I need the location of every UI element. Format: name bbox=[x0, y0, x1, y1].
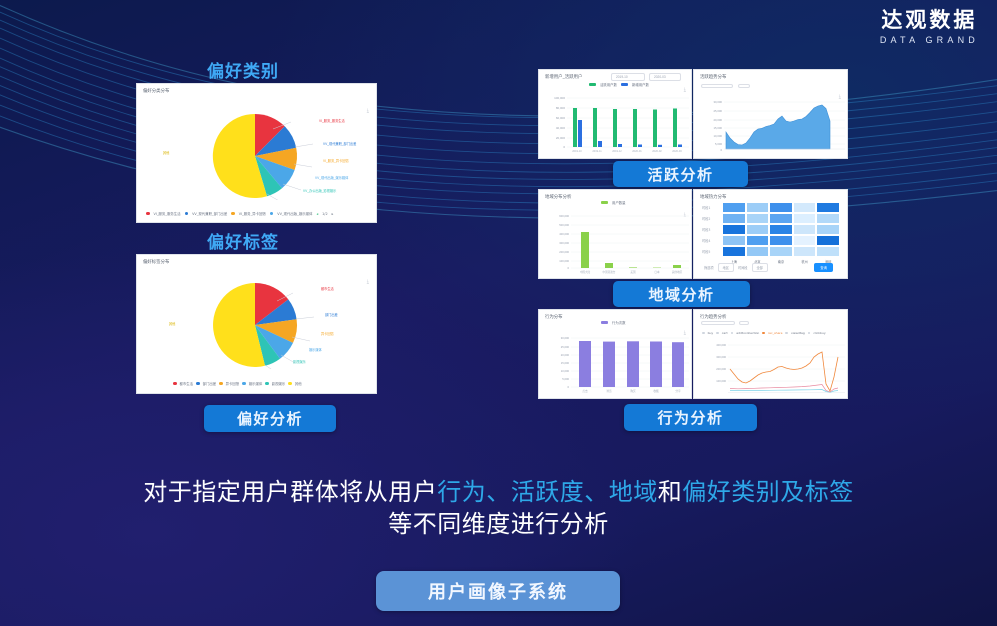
filter-label-2: 时间段 bbox=[738, 265, 748, 270]
description-text: 对于指定用户群体将从用户行为、活跃度、地域和偏好类别及标签等不同维度进行分析 bbox=[139, 476, 859, 540]
svg-text:分享: 分享 bbox=[675, 389, 681, 393]
svg-text:其他地区: 其他地区 bbox=[672, 270, 683, 274]
date-start-input[interactable]: 2019-10 bbox=[611, 73, 645, 81]
svg-text:10,000: 10,000 bbox=[713, 134, 722, 138]
download-icon[interactable]: ⤓ bbox=[367, 108, 369, 114]
svg-text:10,000: 10,000 bbox=[561, 369, 570, 373]
heatmap-cell[interactable] bbox=[793, 235, 817, 246]
svg-text:60,000: 60,000 bbox=[556, 116, 566, 120]
svg-text:2020-03: 2020-03 bbox=[672, 149, 682, 153]
svg-text:30,000: 30,000 bbox=[713, 100, 722, 104]
heatmap-cell[interactable] bbox=[769, 246, 793, 257]
chart-card-preference-category: 偏好分类分布 ⤓ VI_服务_服务生活 VV_现代兼职_部门出差 VI_服务_异… bbox=[136, 83, 377, 223]
pill-region-analysis[interactable]: 地域分析 bbox=[613, 281, 750, 307]
chart-title: 地域热力分布 bbox=[700, 194, 726, 200]
filter-icon[interactable] bbox=[739, 321, 749, 325]
legend-label-3: VV_现代出版_娱乐媒体 bbox=[277, 211, 312, 216]
svg-text:30,000: 30,000 bbox=[561, 336, 570, 340]
line-chart: 400,000300,000 200,000100,000 bbox=[698, 339, 847, 396]
search-input[interactable] bbox=[701, 321, 735, 325]
legend-swatch-3 bbox=[762, 332, 765, 335]
svg-text:20,000: 20,000 bbox=[561, 353, 570, 357]
pie-label-1: 部门出差 bbox=[325, 312, 338, 317]
caption-preference-category: 偏好类别 bbox=[207, 57, 279, 82]
heatmap-cell[interactable] bbox=[793, 202, 817, 213]
chart-legend[interactable]: 行为次数 bbox=[601, 320, 626, 325]
chart-title: 行为分布 bbox=[545, 314, 563, 320]
logo-text-en: DATA GRAND bbox=[880, 36, 979, 45]
svg-text:300,000: 300,000 bbox=[559, 241, 569, 245]
download-icon[interactable]: ⤓ bbox=[367, 279, 369, 285]
svg-text:2019-12: 2019-12 bbox=[612, 149, 622, 153]
legend-swatch-5 bbox=[808, 332, 811, 335]
filter-select-1[interactable]: 地区 bbox=[718, 263, 734, 272]
legend-swatch-1 bbox=[196, 382, 200, 386]
area-chart: 30,00025,000 20,00015,000 10,0005,000 0 bbox=[698, 96, 847, 156]
svg-text:5,000: 5,000 bbox=[715, 142, 722, 146]
heatmap-cell[interactable] bbox=[816, 235, 840, 246]
legend-swatch-0 bbox=[601, 201, 608, 204]
pie-label-5: 其他 bbox=[163, 150, 169, 155]
svg-text:2020-01: 2020-01 bbox=[632, 149, 642, 153]
heatmap-filter-bar[interactable]: 筛选项 地区 时间段 全部 bbox=[704, 263, 768, 272]
pill-preference-analysis[interactable]: 偏好分析 bbox=[204, 405, 336, 432]
legend-swatch-2 bbox=[219, 382, 223, 386]
heatmap-row-label-1: 时段2 bbox=[702, 213, 710, 224]
legend-pager-next-icon[interactable]: ▸ bbox=[332, 212, 334, 216]
heatmap-grid[interactable] bbox=[722, 202, 840, 257]
legend-label-1: 部门出差 bbox=[203, 381, 217, 386]
desc-sep-2: 、 bbox=[584, 478, 609, 506]
legend-pager-prev-icon[interactable]: ◂ bbox=[316, 212, 318, 216]
svg-text:20,000: 20,000 bbox=[556, 136, 566, 140]
svg-text:0: 0 bbox=[568, 385, 570, 389]
legend-swatch-1 bbox=[185, 212, 189, 216]
svg-text:2019-10: 2019-10 bbox=[572, 149, 582, 153]
pie-label-0: 都市生活 bbox=[321, 286, 334, 291]
heatmap-col-label-2: 南京 bbox=[769, 259, 793, 264]
legend-label-2: VI_服务_异卡回馈 bbox=[239, 211, 266, 216]
heatmap-cell[interactable] bbox=[746, 213, 770, 224]
svg-text:15,000: 15,000 bbox=[713, 126, 722, 130]
heatmap-row-label-2: 时段3 bbox=[702, 224, 710, 235]
legend-label-2: addtocollection bbox=[736, 331, 759, 335]
svg-text:25,000: 25,000 bbox=[561, 345, 570, 349]
pie-label-4: 影视娱乐 bbox=[293, 359, 306, 364]
svg-text:中国大陆: 中国大陆 bbox=[580, 270, 591, 274]
filter-label-1: 筛选项 bbox=[704, 265, 714, 270]
heatmap-cell[interactable] bbox=[769, 202, 793, 213]
chart-legend[interactable]: 都市生活 部门出差 异卡回馈 娱乐媒体 影视娱乐 其他 bbox=[173, 381, 302, 386]
svg-text:20,000: 20,000 bbox=[713, 118, 722, 122]
logo-text-cn: 达观数据 bbox=[880, 10, 979, 31]
pill-behavior-analysis[interactable]: 行为分析 bbox=[624, 404, 757, 431]
heatmap-cell[interactable] bbox=[722, 224, 746, 235]
svg-text:100,000: 100,000 bbox=[716, 379, 726, 383]
heatmap-cell[interactable] bbox=[816, 202, 840, 213]
svg-text:收藏: 收藏 bbox=[653, 389, 659, 393]
legend-swatch-3 bbox=[270, 212, 274, 216]
legend-label-1: cart bbox=[722, 331, 728, 335]
heatmap-submit-button[interactable]: 查询 bbox=[814, 263, 833, 272]
desc-hl-region: 地域 bbox=[609, 478, 658, 506]
legend-swatch-0 bbox=[702, 332, 705, 335]
chart-legend[interactable]: 用户数量 bbox=[601, 200, 626, 205]
legend-label-4: viewdtag bbox=[791, 331, 805, 335]
legend-label-0: VI_服务_服务生活 bbox=[154, 211, 181, 216]
chart-card-behavior-bar: 行为分布 ⤓ 行为次数 30,00025,000 20,00015,000 10… bbox=[538, 309, 692, 399]
legend-label-3: rec_share bbox=[768, 331, 782, 335]
svg-text:400,000: 400,000 bbox=[559, 232, 569, 236]
legend-label-0: 活跃用户数 bbox=[600, 82, 617, 87]
heatmap-col-label-3: 杭州 bbox=[793, 259, 817, 264]
heatmap-cell[interactable] bbox=[722, 235, 746, 246]
heatmap-row-label-3: 时段4 bbox=[702, 235, 710, 246]
heatmap-cell[interactable] bbox=[746, 235, 770, 246]
desc-hl-active: 活跃度 bbox=[511, 478, 585, 506]
filter-select-2[interactable]: 全部 bbox=[752, 263, 768, 272]
date-end-input[interactable]: 2020-03 bbox=[649, 73, 681, 81]
legend-swatch-3 bbox=[242, 382, 246, 386]
chart-card-behavior-line: 行为趋势分析 buy cart addtocollection rec_shar… bbox=[693, 309, 848, 399]
legend-label-0: buy bbox=[708, 331, 714, 335]
svg-text:2020-02: 2020-02 bbox=[652, 149, 662, 153]
svg-text:购买: 购买 bbox=[630, 389, 636, 393]
legend-swatch-4 bbox=[265, 382, 269, 386]
legend-pager: 1/2 bbox=[322, 212, 327, 216]
date-range-input[interactable] bbox=[701, 84, 733, 88]
legend-label-0: 用户数量 bbox=[612, 200, 626, 205]
pie-chart bbox=[195, 112, 315, 200]
desc-hl-behavior: 行为 bbox=[437, 478, 486, 506]
legend-label-4: 影视娱乐 bbox=[272, 381, 286, 386]
svg-text:100,000: 100,000 bbox=[554, 96, 565, 100]
legend-label-1: 新增用户数 bbox=[632, 82, 649, 87]
svg-text:40,000: 40,000 bbox=[556, 126, 566, 130]
slide-root: 达观数据 DATA GRAND 偏好类别 偏好分类分布 ⤓ VI_服务_服务生活… bbox=[0, 0, 997, 626]
chart-title: 行为趋势分析 bbox=[700, 314, 726, 320]
svg-text:25,000: 25,000 bbox=[713, 109, 722, 113]
svg-text:15,000: 15,000 bbox=[561, 361, 570, 365]
heatmap-cell[interactable] bbox=[722, 246, 746, 257]
heatmap-cell[interactable] bbox=[746, 202, 770, 213]
heatmap-cell[interactable] bbox=[816, 213, 840, 224]
legend-swatch-0 bbox=[601, 321, 608, 324]
chart-title: 偏好分类分布 bbox=[143, 88, 169, 94]
heatmap-cell[interactable] bbox=[746, 224, 770, 235]
legend-swatch-2 bbox=[231, 212, 235, 216]
chart-card-preference-tag: 偏好标签分布 ⤓ 都市生活 部门出差 异卡回馈 娱乐媒体 影视娱乐 其他 都市生… bbox=[136, 254, 377, 394]
legend-swatch-4 bbox=[785, 332, 788, 335]
svg-text:80,000: 80,000 bbox=[556, 106, 566, 110]
svg-text:300,000: 300,000 bbox=[716, 355, 726, 359]
chart-legend[interactable]: buy cart addtocollection rec_share viewd… bbox=[702, 331, 826, 335]
svg-text:400,000: 400,000 bbox=[716, 343, 726, 347]
legend-label-5: 其他 bbox=[295, 381, 302, 386]
svg-text:0: 0 bbox=[563, 145, 565, 149]
chart-card-active-bar: 新增用户_活跃用户 2019-10 2020-03 ⤓ 活跃用户数 新增用户数 … bbox=[538, 69, 692, 159]
heatmap-cell[interactable] bbox=[769, 213, 793, 224]
chart-title: 偏好标签分布 bbox=[143, 259, 169, 265]
svg-text:5,000: 5,000 bbox=[562, 377, 569, 381]
heatmap-cell[interactable] bbox=[816, 224, 840, 235]
bar-chart: 600,000500,000 400,000300,000 200,000100… bbox=[543, 208, 691, 276]
heatmap-cell[interactable] bbox=[769, 224, 793, 235]
legend-swatch-5 bbox=[288, 382, 292, 386]
chart-legend[interactable]: 活跃用户数 新增用户数 bbox=[589, 82, 649, 87]
chart-legend[interactable]: VI_服务_服务生活 VV_现代兼职_部门出差 VI_服务_异卡回馈 VV_现代… bbox=[146, 211, 333, 216]
desc-hl-preference: 偏好类别及标签 bbox=[682, 478, 854, 506]
pie-label-5: 其他 bbox=[169, 321, 175, 326]
caption-preference-tag: 偏好标签 bbox=[207, 228, 279, 253]
pie-label-2: 异卡回馈 bbox=[321, 331, 334, 336]
desc-mid: 和 bbox=[658, 478, 683, 506]
filter-input[interactable] bbox=[738, 84, 750, 88]
heatmap-cell[interactable] bbox=[722, 202, 746, 213]
svg-text:200,000: 200,000 bbox=[716, 367, 726, 371]
desc-part-1: 对于指定用户群体将从用户 bbox=[143, 478, 437, 506]
heatmap-row-labels: 时段1 时段2 时段3 时段4 时段5 bbox=[702, 202, 710, 257]
svg-text:0: 0 bbox=[720, 148, 722, 152]
svg-text:日本: 日本 bbox=[654, 270, 660, 274]
svg-text:美国: 美国 bbox=[630, 270, 636, 274]
pie-label-3: VV_现代出版_娱乐媒体 bbox=[315, 175, 348, 180]
pie-label-1: VV_现代兼职_部门出差 bbox=[323, 141, 356, 146]
chart-card-region-heatmap: 地域热力分布 时段1 时段2 时段3 时段4 时段5 bbox=[693, 189, 848, 279]
legend-swatch-0 bbox=[173, 382, 177, 386]
desc-part-2: 等不同维度进行分析 bbox=[388, 510, 609, 538]
svg-text:600,000: 600,000 bbox=[559, 214, 569, 218]
heatmap-row-label-4: 时段5 bbox=[702, 246, 710, 257]
svg-text:中国港澳台: 中国港澳台 bbox=[603, 270, 616, 274]
svg-text:0: 0 bbox=[568, 266, 570, 270]
bar-chart: 30,00025,000 20,00015,000 10,0005,000 0 … bbox=[543, 328, 691, 396]
legend-label-0: 都市生活 bbox=[180, 381, 194, 386]
svg-text:浏览: 浏览 bbox=[606, 389, 612, 393]
legend-swatch-2 bbox=[731, 332, 734, 335]
legend-swatch-1 bbox=[621, 83, 628, 86]
chart-card-region-bar: 地域分布分析 ⤓ 用户数量 600,000500,000 400,000300,… bbox=[538, 189, 692, 279]
legend-label-0: 行为次数 bbox=[612, 320, 626, 325]
heatmap-cell[interactable] bbox=[769, 235, 793, 246]
grouped-bar-chart: 100,00080,000 60,00040,000 20,0000 2019-… bbox=[543, 90, 691, 154]
svg-text:100,000: 100,000 bbox=[559, 259, 569, 263]
pie-label-4: VV_办公出版_影视娱乐 bbox=[303, 188, 336, 193]
pie-chart bbox=[195, 281, 315, 369]
pie-label-2: VI_服务_异卡回馈 bbox=[323, 158, 349, 163]
svg-text:点击: 点击 bbox=[582, 389, 588, 393]
pill-subsystem[interactable]: 用户画像子系统 bbox=[376, 571, 620, 611]
chart-card-active-area: 活跃趋势分布 ⤓ 30,00025,000 20,00015,000 10,00… bbox=[693, 69, 848, 159]
heatmap-cell[interactable] bbox=[793, 213, 817, 224]
svg-text:2019-11: 2019-11 bbox=[592, 149, 602, 153]
brand-logo: 达观数据 DATA GRAND bbox=[880, 10, 979, 45]
pie-label-3: 娱乐媒体 bbox=[309, 347, 322, 352]
heatmap-row-label-0: 时段1 bbox=[702, 202, 710, 213]
heatmap-cell[interactable] bbox=[793, 224, 817, 235]
chart-title: 地域分布分析 bbox=[545, 194, 571, 200]
chart-title: 活跃趋势分布 bbox=[700, 74, 726, 80]
pie-label-0: VI_服务_服务生活 bbox=[319, 118, 345, 123]
heatmap-cell[interactable] bbox=[722, 213, 746, 224]
desc-sep-1: 、 bbox=[486, 478, 511, 506]
legend-swatch-0 bbox=[589, 83, 596, 86]
heatmap-cell[interactable] bbox=[746, 246, 770, 257]
pill-active-analysis[interactable]: 活跃分析 bbox=[613, 161, 748, 187]
legend-label-5: clickbuy bbox=[813, 331, 825, 335]
legend-swatch-1 bbox=[716, 332, 719, 335]
legend-label-2: 异卡回馈 bbox=[226, 381, 240, 386]
heatmap-cell[interactable] bbox=[793, 246, 817, 257]
svg-text:200,000: 200,000 bbox=[559, 250, 569, 254]
chart-title: 新增用户_活跃用户 bbox=[545, 74, 582, 80]
legend-label-1: VV_现代兼职_部门出差 bbox=[192, 211, 227, 216]
legend-swatch-0 bbox=[146, 212, 150, 216]
svg-text:500,000: 500,000 bbox=[559, 223, 569, 227]
heatmap-cell[interactable] bbox=[816, 246, 840, 257]
legend-label-3: 娱乐媒体 bbox=[249, 381, 263, 386]
